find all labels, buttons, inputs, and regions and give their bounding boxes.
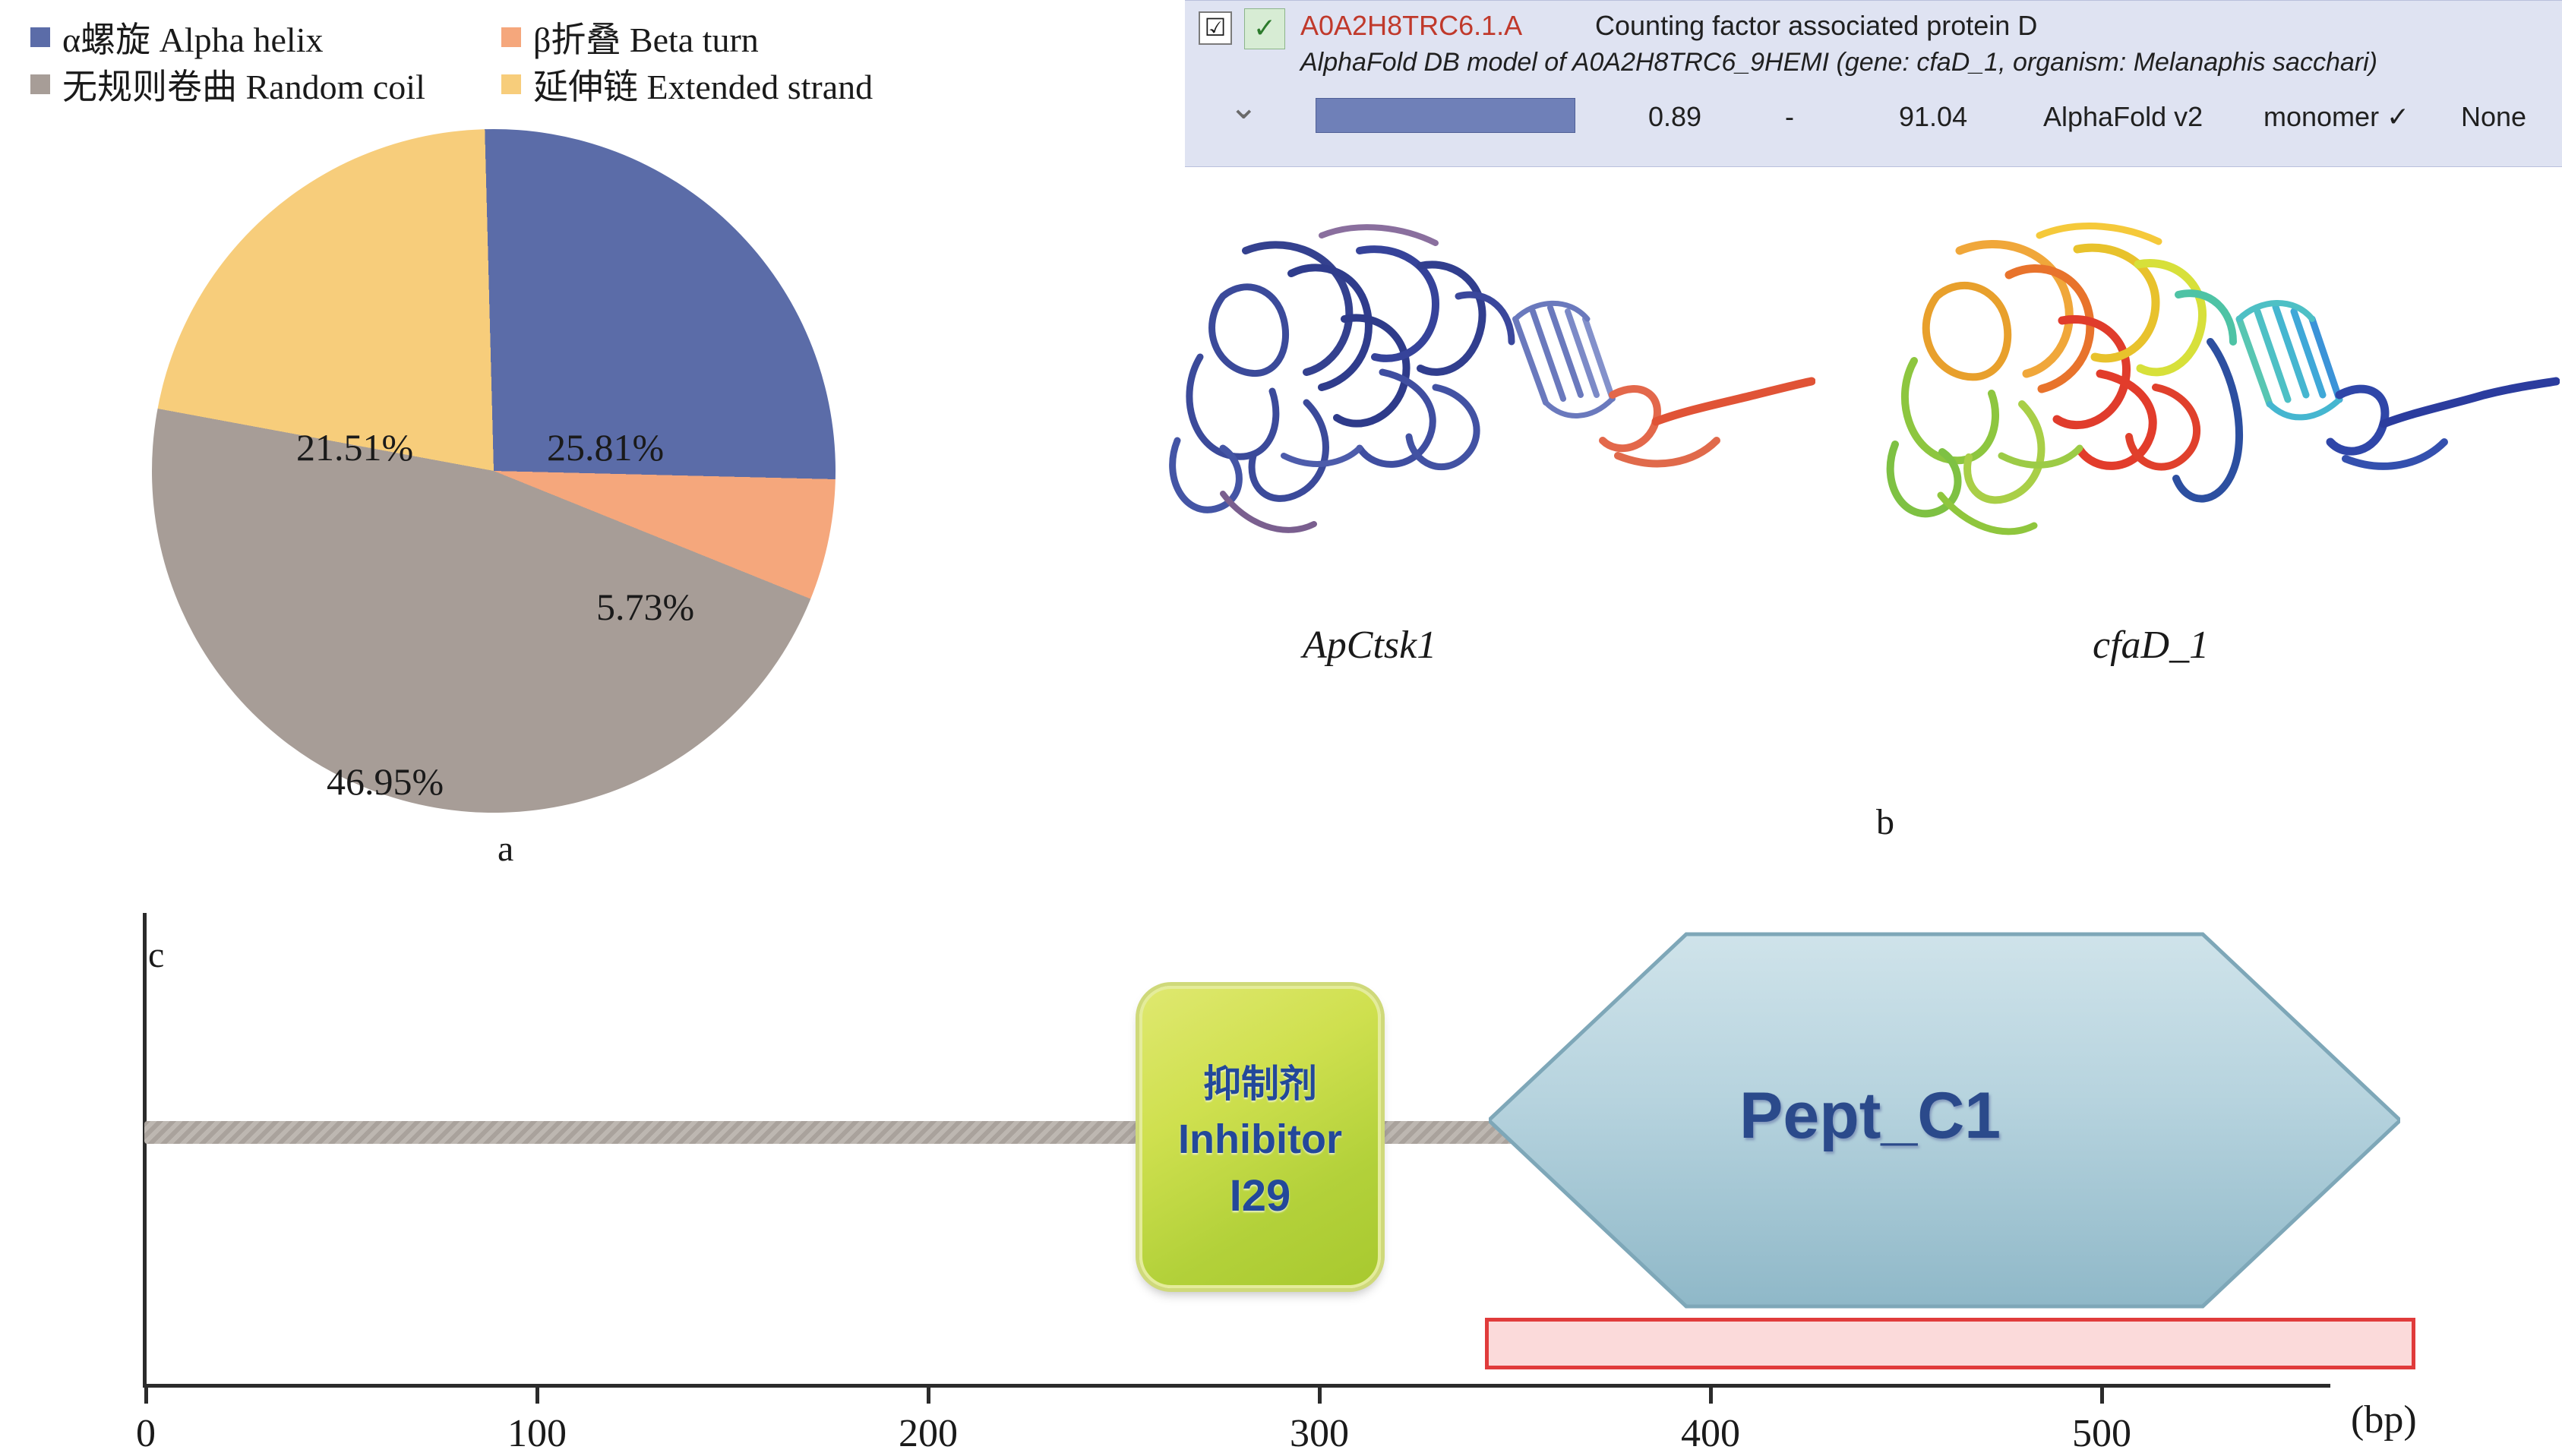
legend-item-beta-turn: β折叠 Beta turn (501, 12, 759, 62)
accession-link[interactable]: A0A2H8TRC6.1.A (1300, 10, 1522, 42)
axis-vertical (143, 913, 147, 1384)
axis-tick-label: 100 (507, 1411, 567, 1456)
square-swatch-icon (501, 27, 521, 47)
chevron-down-icon[interactable]: ⌄ (1229, 86, 1259, 127)
legend-row-1: α螺旋 Alpha helix β折叠 Beta turn (30, 14, 1170, 61)
panel-label-b: b (1876, 801, 1894, 843)
annotation-bar (1485, 1318, 2415, 1369)
model-description: AlphaFold DB model of A0A2H8TRC6_9HEMI (… (1300, 48, 2377, 77)
axis-tick-label: 500 (2072, 1411, 2131, 1456)
legend-item-random-coil: 无规则卷曲 Random coil (30, 59, 501, 109)
protein-name: Counting factor associated protein D (1595, 10, 2037, 42)
domain-label-en: Inhibitor (1178, 1116, 1342, 1163)
legend-row-2: 无规则卷曲 Random coil 延伸链 Extended strand (30, 61, 1170, 108)
plddt-value: 91.04 (1899, 101, 1967, 133)
secondary-structure-pie-chart: 25.81% 5.73% 46.95% 21.51% (152, 129, 851, 828)
square-swatch-icon (30, 27, 50, 47)
domain-label-pept-c1: Pept_C1 (1739, 1079, 2001, 1154)
pie-slice-label-extended-strand: 21.51% (296, 425, 413, 469)
protein-structure-apctsk1 (1132, 205, 1815, 600)
axis-horizontal (143, 1384, 2330, 1388)
ribbon-diagram-icon (1853, 205, 2560, 600)
status-check-icon: ✓ (1244, 8, 1285, 49)
axis-tick-label: 0 (136, 1411, 156, 1456)
axis-tick-label: 400 (1681, 1411, 1740, 1456)
domain-architecture-diagram: c 0 100 200 300 400 500 (bp) 抑制剂 Inhibit… (0, 866, 2562, 1348)
model-version: AlphaFold v2 (2043, 101, 2203, 133)
oligomeric-state: monomer ✓ (2263, 101, 2409, 133)
legend-label: 无规则卷曲 Random coil (62, 59, 425, 109)
ribbon-diagram-icon (1132, 205, 1815, 600)
axis-tick (2100, 1384, 2104, 1404)
axis-tick (535, 1384, 539, 1404)
legend-label: β折叠 Beta turn (533, 12, 759, 62)
axis-tick-label: 300 (1290, 1411, 1349, 1456)
panel-label-a: a (498, 828, 513, 870)
protein-structure-cfad1 (1853, 205, 2560, 600)
score-value: 0.89 (1648, 101, 1701, 133)
axis-tick-label: 200 (899, 1411, 958, 1456)
structure-name-apctsk1: ApCtsk1 (1303, 623, 1436, 668)
domain-label-code: I29 (1230, 1170, 1291, 1221)
square-swatch-icon (501, 74, 521, 94)
confidence-bar (1316, 98, 1575, 133)
legend-item-alpha-helix: α螺旋 Alpha helix (30, 12, 501, 62)
structure-name-cfad1: cfaD_1 (2093, 623, 2209, 668)
axis-unit-label: (bp) (2351, 1398, 2417, 1442)
axis-tick (927, 1384, 930, 1404)
legend-label: 延伸链 Extended strand (533, 59, 873, 109)
ligands-value: None (2461, 101, 2526, 133)
legend-item-extended-strand: 延伸链 Extended strand (501, 59, 873, 109)
pie-slices (143, 120, 844, 821)
pie-legend: α螺旋 Alpha helix β折叠 Beta turn 无规则卷曲 Rand… (30, 14, 1170, 112)
domain-label-cn: 抑制剂 (1203, 1053, 1317, 1108)
pie-slice-label-beta-turn: 5.73% (596, 585, 694, 629)
panel-label-c: c (148, 934, 164, 976)
axis-tick (1318, 1384, 1322, 1404)
pie-slice-label-random-coil: 46.95% (327, 760, 444, 804)
axis-tick (144, 1384, 148, 1404)
axis-tick (1709, 1384, 1713, 1404)
alphafold-model-row[interactable]: ☑ ✓ A0A2H8TRC6.1.A Counting factor assoc… (1185, 0, 2562, 167)
dash-value: - (1785, 101, 1794, 133)
square-swatch-icon (30, 74, 50, 94)
pie-slice-label-alpha-helix: 25.81% (547, 425, 664, 469)
row-checkbox[interactable]: ☑ (1199, 11, 1232, 45)
domain-inhibitor-i29[interactable]: 抑制剂 Inhibitor I29 (1139, 986, 1381, 1288)
legend-label: α螺旋 Alpha helix (62, 12, 324, 62)
